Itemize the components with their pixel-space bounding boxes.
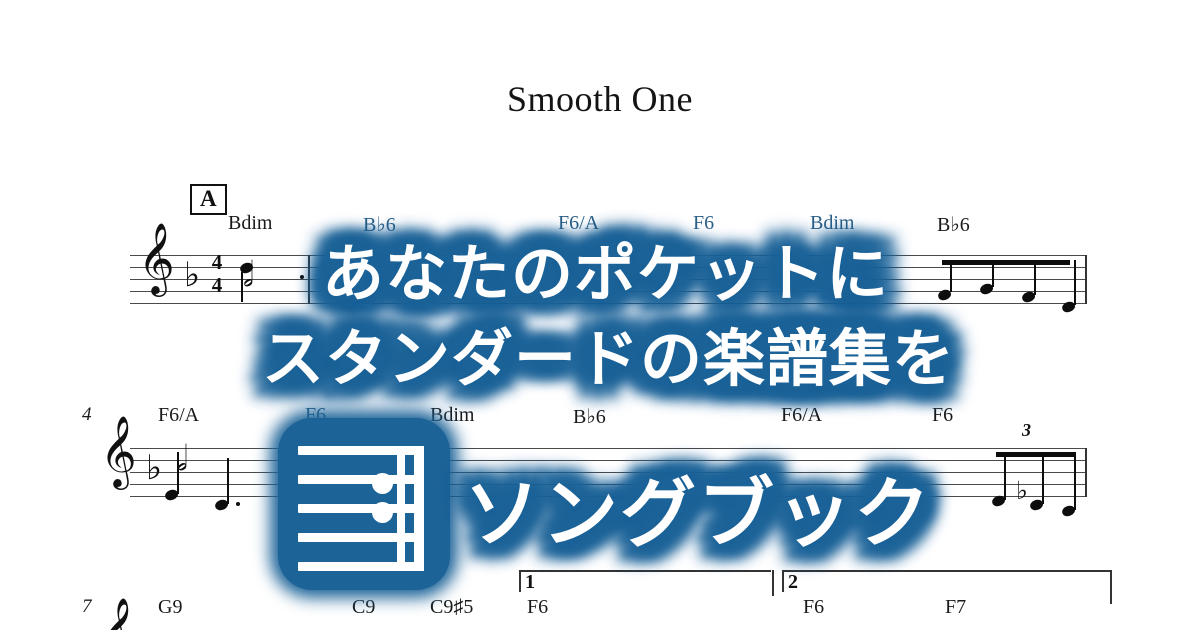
promo-overlay: あなたのポケットに スタンダードの楽譜集を ソングブック (0, 0, 1200, 630)
songbook-logo-icon (278, 418, 450, 590)
promo-brand-name: ソングブック (464, 452, 932, 562)
promo-headline-line-2: スタンダードの楽譜集を (262, 308, 955, 398)
promo-headline-line-1: あなたのポケットに (322, 223, 889, 313)
screenshot-canvas: Smooth One A Bdim B♭6 F6/A F6 Bdim B♭6 𝄞… (0, 0, 1200, 630)
